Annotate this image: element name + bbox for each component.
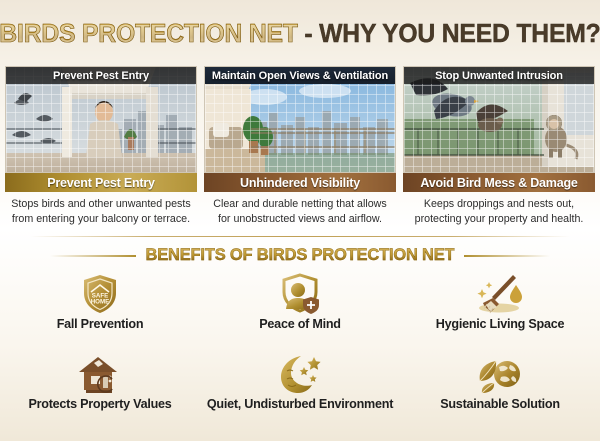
feature-panel-prevent-pest-entry: Prevent Pest Entry Prevent Pest Entry St… — [5, 66, 197, 226]
feature-panel-unhindered-visibility: Maintain Open Views & Ventilation Unhind… — [204, 66, 396, 226]
section-divider — [30, 236, 570, 237]
benefit-item-protects-property-values: Protects Property Values — [0, 352, 200, 426]
moon-stars-icon — [275, 352, 325, 396]
benefit-item-hygienic-living-space: Hygienic Living Space — [400, 272, 600, 346]
benefit-label: Hygienic Living Space — [436, 317, 564, 331]
panel-caption: Prevent Pest Entry — [5, 173, 197, 192]
benefit-label: Quiet, Undisturbed Environment — [207, 397, 393, 411]
globe-leaf-icon — [474, 352, 526, 396]
panel-caption: Unhindered Visibility — [204, 173, 396, 192]
benefit-label: Peace of Mind — [259, 317, 340, 331]
panel-photo: Maintain Open Views & Ventilation — [204, 66, 396, 173]
benefit-label: Sustainable Solution — [440, 397, 560, 411]
page-title-gold: BIRDS PROTECTION NET — [0, 20, 298, 48]
benefit-item-sustainable-solution: Sustainable Solution — [400, 352, 600, 426]
benefit-item-quiet-undisturbed-environment: Quiet, Undisturbed Environment — [200, 352, 400, 426]
benefits-heading-text: BENEFITS OF BIRDS PROTECTION NET — [146, 246, 455, 265]
panel-description: Keeps droppings and nests out, protectin… — [403, 192, 595, 226]
benefit-item-peace-of-mind: Peace of Mind — [200, 272, 400, 346]
benefits-grid: SAFE HOME Fall Prevention Pea — [0, 272, 600, 426]
benefit-label: Fall Prevention — [57, 317, 144, 331]
panel-caption: Avoid Bird Mess & Damage — [403, 173, 595, 192]
panel-banner: Prevent Pest Entry — [6, 67, 196, 84]
broom-droplet-icon — [475, 272, 525, 316]
page-title: BIRDS PROTECTION NET - WHY YOU NEED THEM… — [0, 0, 600, 62]
feature-panel-avoid-bird-mess: Stop Unwanted Intrusion Avoid Bird Mess … — [403, 66, 595, 226]
panel-description: Clear and durable netting that allows fo… — [204, 192, 396, 226]
benefit-label: Protects Property Values — [28, 397, 171, 411]
heading-rule-left — [50, 255, 136, 257]
safe-home-shield-icon: SAFE HOME — [80, 272, 120, 316]
panel-banner: Stop Unwanted Intrusion — [404, 67, 594, 84]
panel-photo: Stop Unwanted Intrusion — [403, 66, 595, 173]
page-title-dark: - WHY YOU NEED THEM? — [298, 20, 600, 48]
panel-photo: Prevent Pest Entry — [5, 66, 197, 173]
house-icon — [76, 352, 124, 396]
person-shield-icon — [278, 272, 322, 316]
shield-badge-line2: HOME — [91, 299, 110, 306]
benefit-item-fall-prevention: SAFE HOME Fall Prevention — [0, 272, 200, 346]
panel-banner: Maintain Open Views & Ventilation — [205, 67, 395, 84]
heading-rule-right — [464, 255, 550, 257]
panel-description: Stops birds and other unwanted pests fro… — [5, 192, 197, 226]
feature-panels: Prevent Pest Entry Prevent Pest Entry St… — [0, 66, 600, 226]
infographic-page: BIRDS PROTECTION NET - WHY YOU NEED THEM… — [0, 0, 600, 441]
benefits-heading: BENEFITS OF BIRDS PROTECTION NET — [0, 246, 600, 265]
